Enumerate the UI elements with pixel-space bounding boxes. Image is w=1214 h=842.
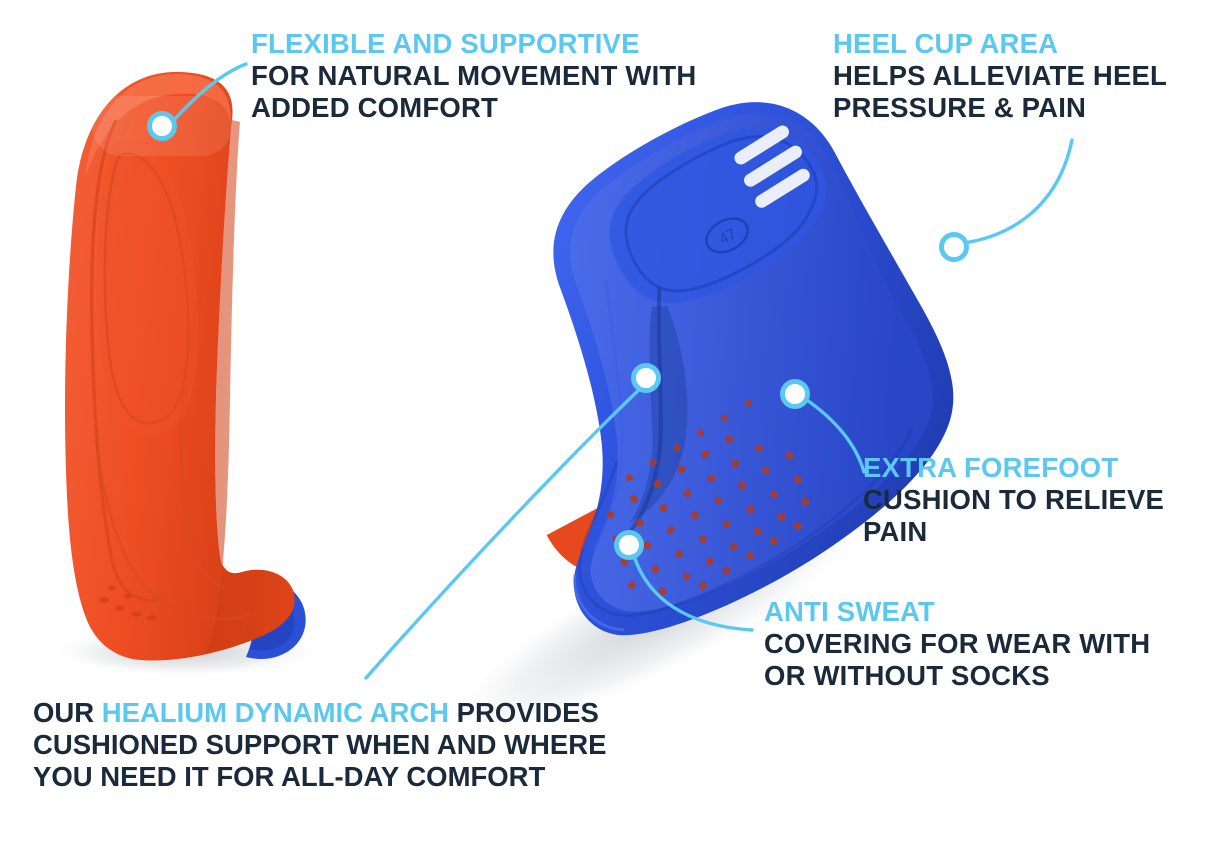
callout-flexible-heading: FLEXIBLE AND SUPPORTIVE: [251, 28, 771, 60]
callout-extra-forefoot-line-1: CUSHION TO RELIEVE: [863, 484, 1208, 516]
callout-flexible-line-1: FOR NATURAL MOVEMENT WITH: [251, 60, 771, 92]
callout-dynamic-arch-line-3: YOU NEED IT FOR ALL-DAY COMFORT: [33, 761, 733, 793]
dot-heel-cup[interactable]: [939, 232, 969, 262]
callout-anti-sweat: ANTI SWEAT COVERING FOR WEAR WITH OR WIT…: [764, 596, 1204, 692]
dot-anti-sweat[interactable]: [614, 530, 644, 560]
callout-heel-cup-line-1: HELPS ALLEVIATE HEEL: [833, 60, 1193, 92]
callout-extra-forefoot: EXTRA FOREFOOT CUSHION TO RELIEVE PAIN: [863, 452, 1208, 548]
connector-heel-cup: [964, 140, 1072, 243]
callout-flexible-line-2: ADDED COMFORT: [251, 92, 771, 124]
arch-text-prefix: OUR: [33, 697, 102, 728]
dot-flexible[interactable]: [147, 111, 177, 141]
callout-dynamic-arch: OUR HEALIUM DYNAMIC ARCH PROVIDES CUSHIO…: [33, 697, 733, 793]
callout-anti-sweat-heading: ANTI SWEAT: [764, 596, 1204, 628]
callout-dynamic-arch-line-1: OUR HEALIUM DYNAMIC ARCH PROVIDES: [33, 697, 733, 729]
callout-heel-cup-heading: HEEL CUP AREA: [833, 28, 1193, 60]
connector-flexible: [172, 64, 246, 122]
callout-anti-sweat-line-1: COVERING FOR WEAR WITH: [764, 628, 1204, 660]
callout-anti-sweat-line-2: OR WITHOUT SOCKS: [764, 660, 1204, 692]
callout-heel-cup-line-2: PRESSURE & PAIN: [833, 92, 1193, 124]
connector-anti-sweat: [634, 556, 752, 630]
callout-extra-forefoot-heading: EXTRA FOREFOOT: [863, 452, 1208, 484]
connector-dynamic-arch: [366, 388, 641, 678]
callout-flexible: FLEXIBLE AND SUPPORTIVE FOR NATURAL MOVE…: [251, 28, 771, 124]
callout-heel-cup: HEEL CUP AREA HELPS ALLEVIATE HEEL PRESS…: [833, 28, 1193, 124]
callout-dynamic-arch-line-2: CUSHIONED SUPPORT WHEN AND WHERE: [33, 729, 733, 761]
arch-text-accent: HEALIUM DYNAMIC ARCH: [102, 697, 449, 728]
callout-extra-forefoot-line-2: PAIN: [863, 516, 1208, 548]
dot-dynamic-arch[interactable]: [631, 363, 661, 393]
dot-extra-forefoot[interactable]: [780, 379, 810, 409]
infographic-canvas: 47: [0, 0, 1214, 837]
arch-text-suffix: PROVIDES: [449, 697, 599, 728]
connector-forefoot: [804, 398, 864, 472]
